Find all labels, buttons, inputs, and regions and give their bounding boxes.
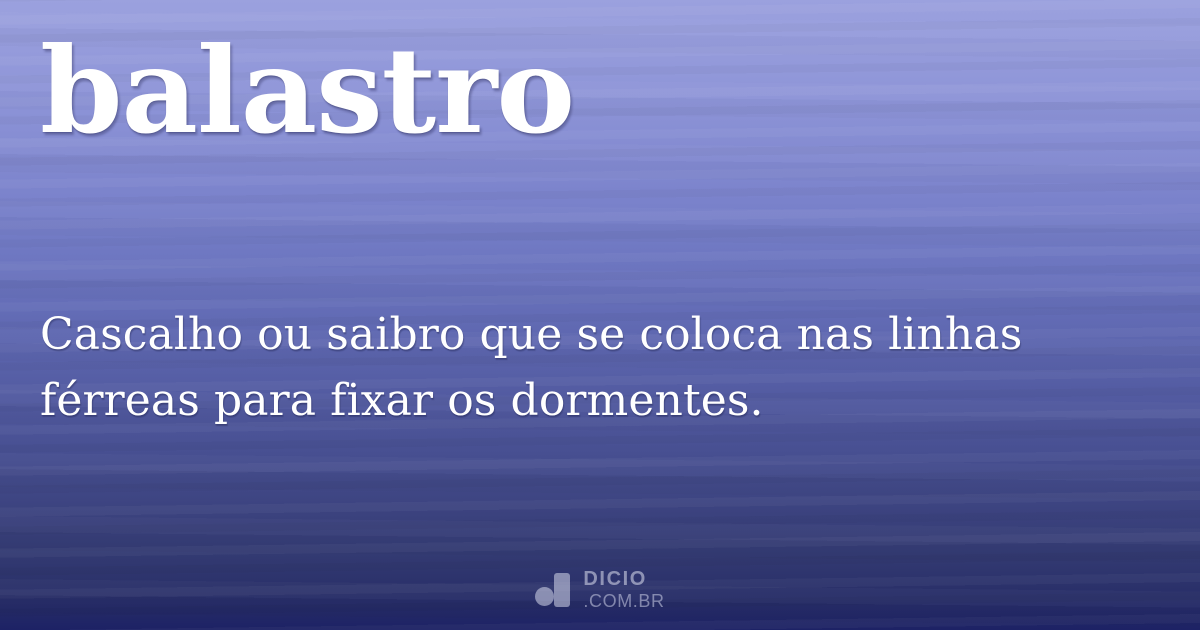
- brand-name-label: DICIO: [583, 569, 664, 589]
- share-card: balastro Cascalho ou saibro que se coloc…: [0, 0, 1200, 630]
- rounded-bar-mark-icon: [554, 573, 570, 607]
- card-content: balastro Cascalho ou saibro que se coloc…: [0, 0, 1200, 630]
- brand-wordmark: DICIO .COM.BR: [583, 569, 664, 610]
- dicio-logo-mark: [535, 573, 572, 607]
- brand-logo: DICIO .COM.BR: [0, 569, 1200, 610]
- headword-title: balastro: [40, 28, 574, 153]
- definition-text: Cascalho ou saibro que se coloca nas lin…: [40, 302, 1070, 433]
- circle-mark-icon: [535, 587, 554, 606]
- brand-tld-label: .COM.BR: [583, 592, 664, 610]
